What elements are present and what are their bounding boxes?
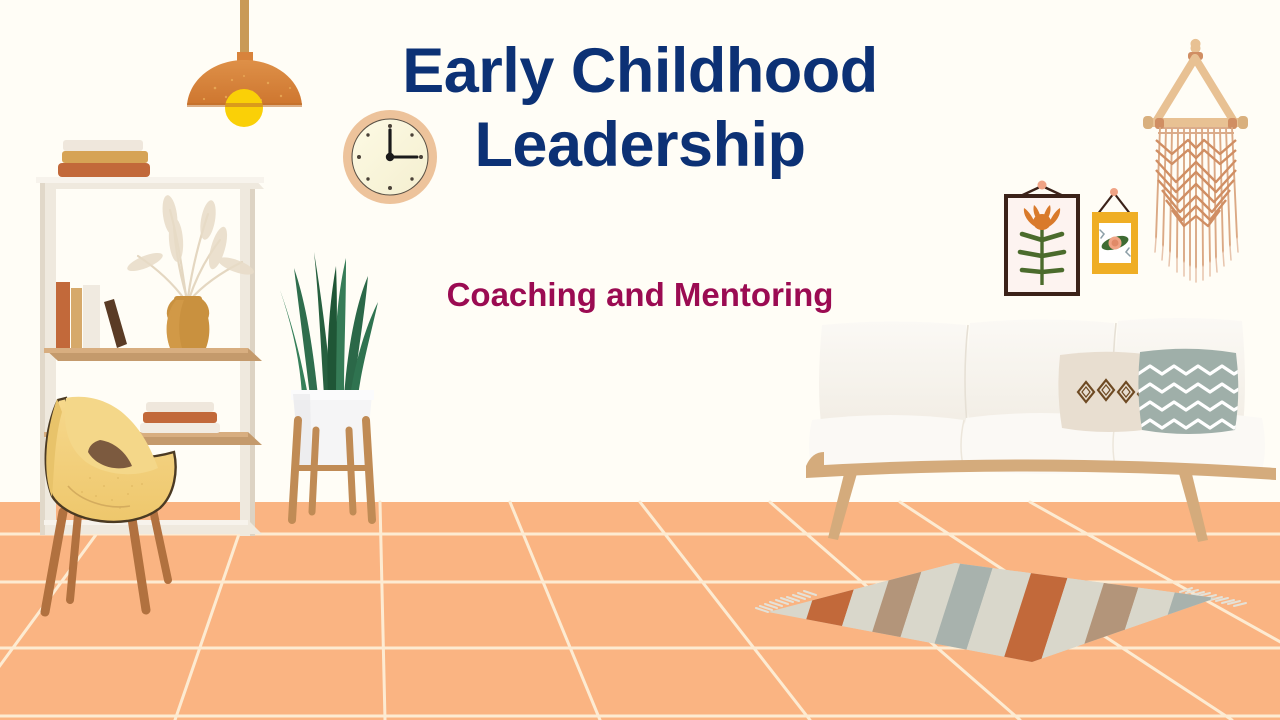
title-line-2: Leadership (340, 108, 940, 182)
chevron-pillow (1138, 349, 1244, 434)
page-title: Early Childhood Leadership (340, 34, 940, 183)
page-subtitle: Coaching and Mentoring (340, 275, 940, 315)
title-line-1: Early Childhood (340, 34, 940, 108)
bookshelf-lower-books (140, 402, 220, 433)
picture-nail (1038, 181, 1047, 190)
subtitle-text: Coaching and Mentoring (340, 275, 940, 315)
lamp-bulb (225, 89, 263, 127)
bookshelf-top-books (58, 140, 150, 177)
picture-nail-small (1110, 188, 1118, 196)
slide-canvas: Early Childhood Leadership Coaching and … (0, 0, 1280, 720)
framed-flower-picture (1004, 181, 1080, 297)
